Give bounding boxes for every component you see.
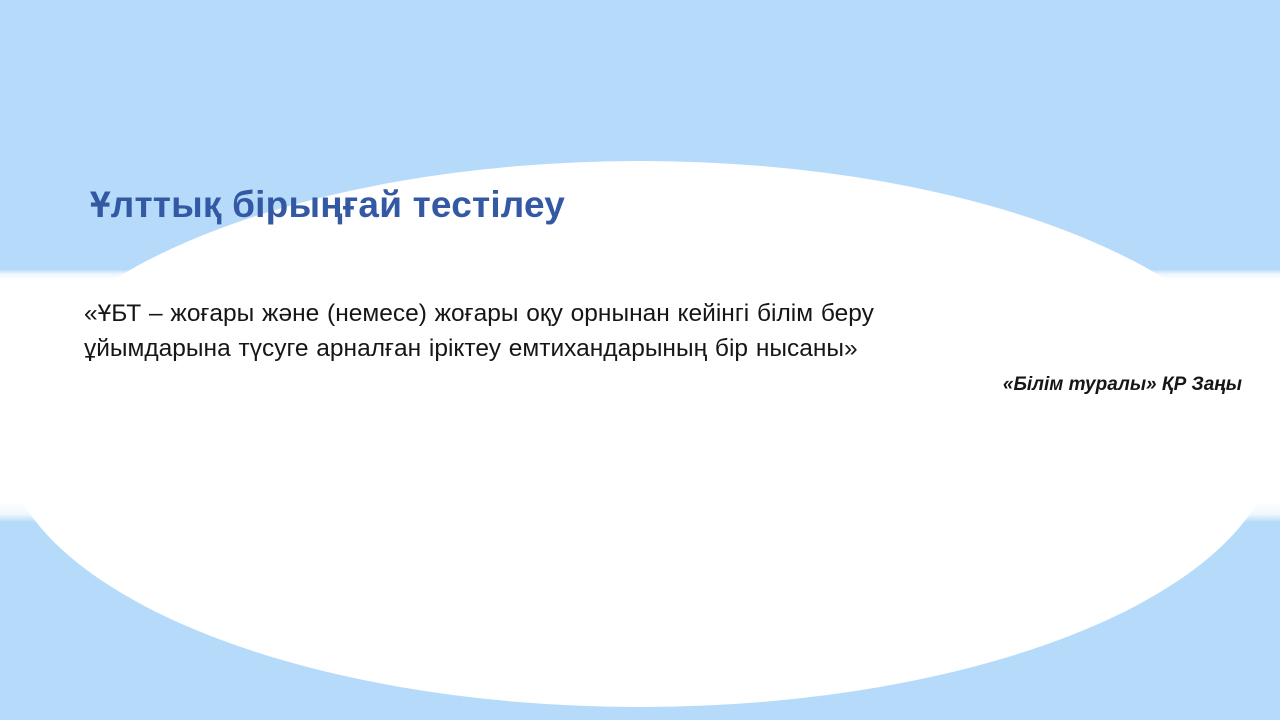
body-line-2: ұйымдарына түсуге арналған іріктеу емтих… xyxy=(84,331,1204,366)
body-line-1: «ҰБТ – жоғары және (немесе) жоғары оқу о… xyxy=(84,296,1204,331)
white-ellipse xyxy=(7,166,1273,702)
slide-body: «ҰБТ – жоғары және (немесе) жоғары оқу о… xyxy=(84,296,1204,366)
slide-title: Ұлттық бірыңғай тестілеу xyxy=(90,183,1190,227)
slide-canvas: Ұлттық бірыңғай тестілеу «ҰБТ – жоғары ж… xyxy=(0,0,1280,720)
source-attribution: «Білім туралы» ҚР Заңы xyxy=(84,372,1242,398)
